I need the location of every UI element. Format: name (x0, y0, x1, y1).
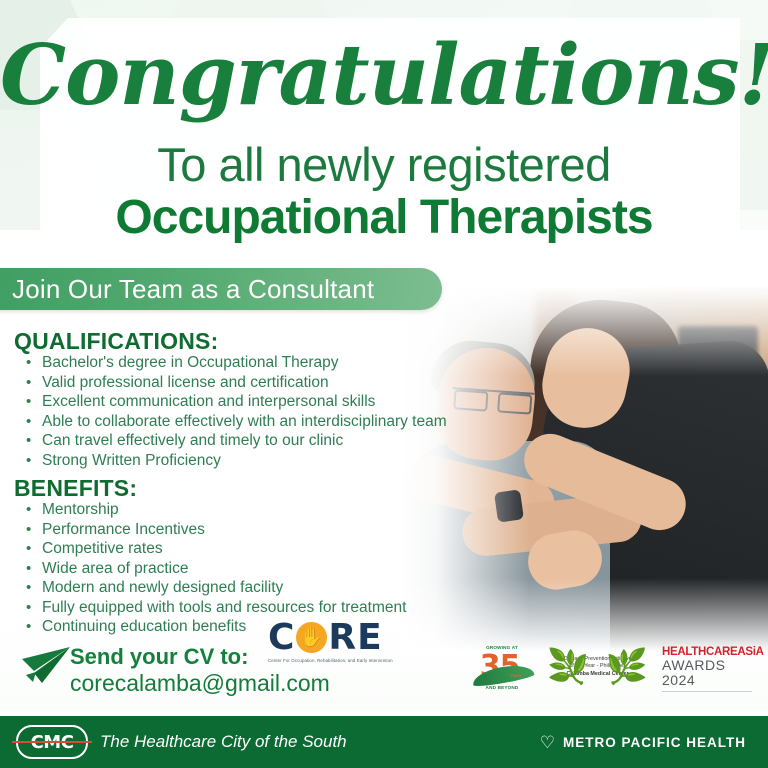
ecg-line-icon (12, 741, 92, 743)
list-item: Performance Incentives (22, 520, 406, 540)
core-logo: C✋RE Center For Occupation, Rehabilitati… (268, 620, 398, 666)
core-letters-re: RE (328, 617, 382, 658)
core-tagline: Center For Occupation, Rehabilitation, a… (268, 658, 398, 663)
benefits-title: BENEFITS: (14, 475, 137, 502)
anniversary-years-label: Years (510, 673, 521, 678)
metro-pacific-health-name: METRO PACIFIC HEALTH (563, 735, 746, 750)
cmc-logo: CMC (16, 725, 88, 759)
qualifications-title: QUALIFICATIONS: (14, 328, 218, 355)
list-item: Strong Written Proficiency (22, 451, 447, 471)
anniversary-badge: GROWING AT 35 Years AND BEYOND (466, 643, 533, 691)
subheadline-line1: To all newly registered (0, 137, 768, 192)
laurel-left-icon: 🌿 (547, 649, 589, 685)
healthcare-asia-line2: AWARDS 2024 (662, 658, 758, 688)
join-team-banner[interactable]: Join Our Team as a Consultant (0, 268, 442, 310)
qualifications-list: Bachelor's degree in Occupational Therap… (22, 353, 447, 470)
laurel-right-icon: 🌿 (606, 649, 648, 685)
contact-email[interactable]: corecalamba@gmail.com (70, 670, 330, 697)
join-team-banner-label: Join Our Team as a Consultant (12, 274, 374, 305)
send-cv-label: Send your CV to: (70, 644, 248, 670)
footer-tagline: The Healthcare City of the South (100, 732, 347, 752)
anniversary-bottom-text: AND BEYOND (466, 685, 538, 690)
core-letter-c: C (268, 617, 295, 658)
healthcare-asia-line1-b: ASiA (737, 646, 763, 658)
list-item: Able to collaborate effectively with an … (22, 412, 447, 432)
list-item: Bachelor's degree in Occupational Therap… (22, 353, 447, 373)
list-item: Fully equipped with tools and resources … (22, 598, 406, 618)
list-item: Can travel effectively and timely to our… (22, 431, 447, 451)
award-badge: 🌿 Disease Prevention Initiative of the Y… (545, 645, 650, 689)
recruitment-poster: Congratulations! To all newly registered… (0, 0, 768, 768)
paper-plane-icon (20, 645, 72, 685)
healthcare-asia-badge: HEALTHCAREASiA AWARDS 2024 (662, 646, 758, 688)
heart-icon: ♡ (540, 734, 555, 751)
list-item: Mentorship (22, 500, 406, 520)
list-item: Wide area of practice (22, 559, 406, 579)
headline: Congratulations! (0, 34, 768, 117)
subheadline-line2: Occupational Therapists (0, 190, 768, 245)
award-badges: GROWING AT 35 Years AND BEYOND 🌿 Disease… (466, 641, 758, 693)
list-item: Valid professional license and certifica… (22, 373, 447, 393)
hand-icon: ✋ (296, 622, 327, 653)
list-item: Excellent communication and interpersona… (22, 392, 447, 412)
list-item: Modern and newly designed facility (22, 578, 406, 598)
core-wordmark: C✋RE (268, 620, 398, 656)
therapy-photo (400, 286, 768, 658)
footer-bar: CMC The Healthcare City of the South ♡ M… (0, 716, 768, 768)
list-item: Competitive rates (22, 539, 406, 559)
metro-pacific-health-logo: ♡ METRO PACIFIC HEALTH (540, 734, 746, 751)
anniversary-top-text: GROWING AT (466, 645, 538, 650)
